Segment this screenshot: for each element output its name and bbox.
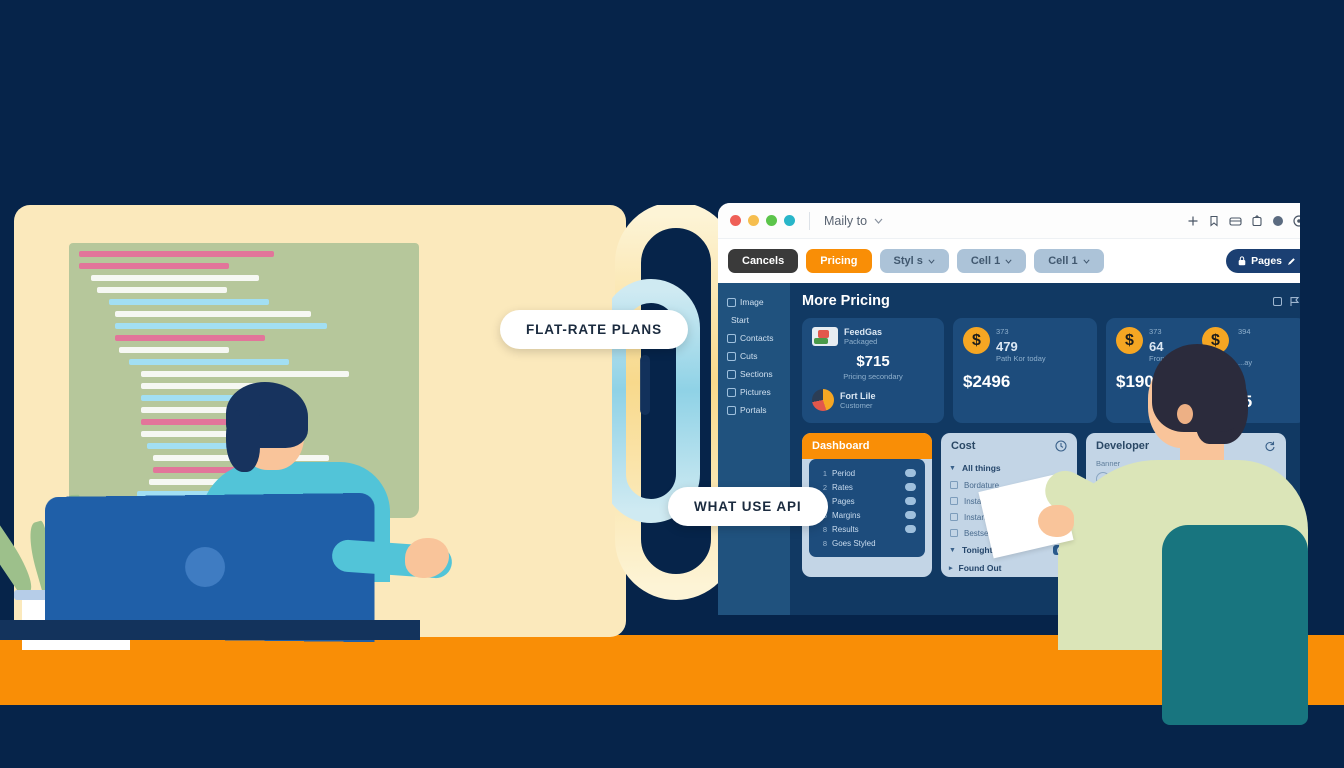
- coin-icon: $: [1116, 327, 1143, 354]
- callout-flat-rate-plans: FLAT-RATE PLANS: [500, 310, 688, 349]
- profile-icon[interactable]: [1272, 215, 1284, 227]
- checkbox[interactable]: [950, 481, 958, 489]
- close-window-dot[interactable]: [730, 215, 741, 226]
- illustration-stage: Maily to: [0, 0, 1344, 768]
- sidebar-item-contacts[interactable]: Contacts: [724, 329, 784, 347]
- sidebar-item-label: Sections: [740, 369, 773, 379]
- card-header: FeedGas Packaged: [812, 327, 934, 346]
- row-label: Results: [832, 525, 859, 534]
- app-toolbar: Cancels Pricing Styl s Cell 1 Cell 1 Pag…: [718, 239, 1330, 283]
- card-header: $ 373 479 Path Kor today: [963, 327, 1087, 363]
- chain-gap: [640, 355, 650, 415]
- toolbar-button-label: Cell 1: [971, 255, 1000, 267]
- code-line: [115, 311, 311, 317]
- row-label: Goes Styled: [832, 539, 876, 548]
- sidebar-item-sections[interactable]: Sections: [724, 365, 784, 383]
- code-line: [79, 251, 274, 257]
- code-line: [115, 323, 327, 329]
- panel-title: Developer: [1096, 440, 1149, 452]
- right-person-hand: [1038, 505, 1074, 537]
- sidebar-item-label: Start: [731, 315, 749, 325]
- dashboard-row[interactable]: 8Results: [815, 522, 919, 536]
- card-badge: 373: [996, 327, 1046, 336]
- card-value: 479: [996, 339, 1046, 354]
- card-title: FeedGas: [844, 327, 882, 337]
- coin-icon: $: [963, 327, 990, 354]
- dashboard-row[interactable]: 6Pages: [815, 494, 919, 508]
- extra-window-dot[interactable]: [784, 215, 795, 226]
- chevron-down-icon: [928, 259, 935, 264]
- group-label: All things: [962, 463, 1001, 473]
- square-icon[interactable]: [1273, 297, 1282, 306]
- sidebar-item-label: Portals: [740, 405, 766, 415]
- code-line: [97, 287, 227, 293]
- row-number: 8: [818, 539, 827, 548]
- row-toggle[interactable]: [905, 483, 916, 491]
- dashboard-row[interactable]: 8Goes Styled: [815, 536, 919, 550]
- toolbar-button-label: Styl s: [894, 255, 923, 267]
- pricing-card-coin-1[interactable]: $ 373 479 Path Kor today $2496: [953, 318, 1097, 423]
- extensions-icon[interactable]: [1229, 215, 1242, 227]
- row-label: Rates: [832, 483, 853, 492]
- card-price: $2496: [963, 372, 1087, 392]
- package-icon[interactable]: [1251, 215, 1263, 227]
- toolbar-button-pricing[interactable]: Pricing: [806, 249, 871, 273]
- toolbar-button-cell-1[interactable]: Cell 1: [957, 249, 1026, 273]
- browser-tab-label: Maily to: [824, 214, 867, 228]
- sections-icon: [727, 370, 736, 379]
- checkbox[interactable]: [950, 513, 958, 521]
- browser-toolbar-icons[interactable]: [1187, 214, 1318, 227]
- lock-icon: [1238, 256, 1246, 266]
- card-footer: Fort Lile Customer: [812, 389, 934, 411]
- picture-icon: [727, 388, 736, 397]
- card-footer-title: Fort Lile: [840, 391, 876, 401]
- callout-what-use-api: WHAT USE API: [668, 487, 828, 526]
- group-label: Tonight: [962, 545, 993, 555]
- account-pages-label: Pages: [1251, 255, 1282, 267]
- card-footer-titles: Fort Lile Customer: [840, 391, 876, 410]
- office-chair: [1162, 525, 1308, 725]
- pie-chart-icon: [812, 389, 834, 411]
- checkbox[interactable]: [950, 497, 958, 505]
- row-toggle[interactable]: [905, 511, 916, 519]
- chevron-down-icon: [1083, 259, 1090, 264]
- browser-tab[interactable]: Maily to: [824, 214, 883, 228]
- card-subtitle: Packaged: [844, 337, 882, 346]
- sidebar-item-label: Cuts: [740, 351, 757, 361]
- code-line: [79, 263, 229, 269]
- caret-down-icon[interactable]: ▼: [949, 547, 956, 554]
- portal-icon: [727, 406, 736, 415]
- code-line: [115, 335, 265, 341]
- group-header[interactable]: ▸Found Out: [941, 559, 1077, 577]
- dashboard-row[interactable]: 6Margins: [815, 508, 919, 522]
- sidebar-item-start[interactable]: Start: [724, 311, 784, 329]
- toolbar-button-cell-2[interactable]: Cell 1: [1034, 249, 1103, 273]
- page-title: More Pricing: [802, 293, 890, 309]
- sidebar-item-portals[interactable]: Portals: [724, 401, 784, 419]
- sidebar-item-pictures[interactable]: Pictures: [724, 383, 784, 401]
- chevron-down-icon: [1005, 259, 1012, 264]
- toolbar-button-label: Cancels: [742, 255, 784, 267]
- plus-icon[interactable]: [1187, 215, 1199, 227]
- right-person-hair: [1152, 344, 1246, 432]
- card-thumbnail-icon: [812, 327, 838, 346]
- toolbar-button-label: Pricing: [820, 255, 857, 267]
- row-toggle[interactable]: [905, 525, 916, 533]
- dashboard-row[interactable]: 2Rates: [815, 480, 919, 494]
- minimize-window-dot[interactable]: [748, 215, 759, 226]
- group-label: Found Out: [959, 563, 1002, 573]
- page-header: More Pricing: [802, 293, 1318, 309]
- sidebar-item-cuts[interactable]: Cuts: [724, 347, 784, 365]
- bookmark-icon[interactable]: [1208, 215, 1220, 227]
- card-footer-subtitle: Customer: [840, 401, 876, 410]
- row-label: Period: [832, 469, 855, 478]
- right-person-ear: [1177, 404, 1193, 424]
- card-badge: 373: [1149, 327, 1177, 336]
- row-label: Margins: [832, 511, 860, 520]
- card-secondary-label: ...ay: [1238, 358, 1252, 367]
- checkbox[interactable]: [950, 529, 958, 537]
- sidebar-item-image[interactable]: Image: [724, 293, 784, 311]
- row-toggle[interactable]: [905, 469, 916, 477]
- app-sidebar: ImageStartContactsCutsSectionsPicturesPo…: [718, 283, 790, 615]
- contacts-icon: [727, 334, 736, 343]
- refresh-icon[interactable]: [1264, 440, 1276, 452]
- clock-icon[interactable]: [1055, 440, 1067, 452]
- caret-right-icon[interactable]: ▸: [949, 564, 953, 572]
- flag-icon[interactable]: [1289, 296, 1300, 307]
- code-line: [91, 275, 259, 281]
- panel-title: Cost: [951, 440, 975, 452]
- callout-label: WHAT USE API: [694, 499, 802, 514]
- callout-label: FLAT-RATE PLANS: [526, 322, 662, 337]
- titlebar-divider: [809, 212, 810, 230]
- left-person-hair-back: [226, 410, 260, 472]
- toolbar-button-label: Cell 1: [1048, 255, 1077, 267]
- row-number: 8: [818, 525, 827, 534]
- card-label: Path Kor today: [996, 354, 1046, 363]
- row-number: 1: [818, 469, 827, 478]
- toolbar-button-style[interactable]: Styl s: [880, 249, 949, 273]
- sidebar-item-label: Pictures: [740, 387, 771, 397]
- card-secondary-badge: 394: [1238, 327, 1252, 336]
- row-toggle[interactable]: [905, 497, 916, 505]
- desk-shadow: [0, 620, 420, 640]
- chevron-down-icon: [874, 218, 883, 224]
- pricing-card-feedgas[interactable]: FeedGas Packaged $715 Pricing secondary …: [802, 318, 944, 423]
- code-line: [129, 359, 289, 365]
- toolbar-button-cancels[interactable]: Cancels: [728, 249, 798, 273]
- maximize-window-dot[interactable]: [766, 215, 777, 226]
- code-line: [141, 371, 349, 377]
- pencil-icon: [1287, 257, 1296, 266]
- caret-down-icon[interactable]: ▼: [949, 465, 956, 472]
- image-icon: [727, 298, 736, 307]
- card-values: 373 479 Path Kor today: [996, 327, 1046, 363]
- card-titles: FeedGas Packaged: [844, 327, 882, 346]
- card-price: $715: [812, 353, 934, 370]
- panel-title: Dashboard: [802, 433, 932, 459]
- sidebar-item-label: Image: [740, 297, 764, 307]
- sidebar-item-label: Contacts: [740, 333, 774, 343]
- traffic-lights[interactable]: [730, 215, 795, 226]
- row-label: Pages: [832, 497, 855, 506]
- browser-titlebar: Maily to: [718, 203, 1330, 239]
- dashboard-row[interactable]: 1Period: [815, 466, 919, 480]
- laptop-logo: [185, 547, 225, 587]
- code-line: [119, 347, 229, 353]
- panel-header: Cost: [941, 433, 1077, 459]
- cut-icon: [727, 352, 736, 361]
- card-price-note: Pricing secondary: [812, 372, 934, 381]
- code-line: [109, 299, 269, 305]
